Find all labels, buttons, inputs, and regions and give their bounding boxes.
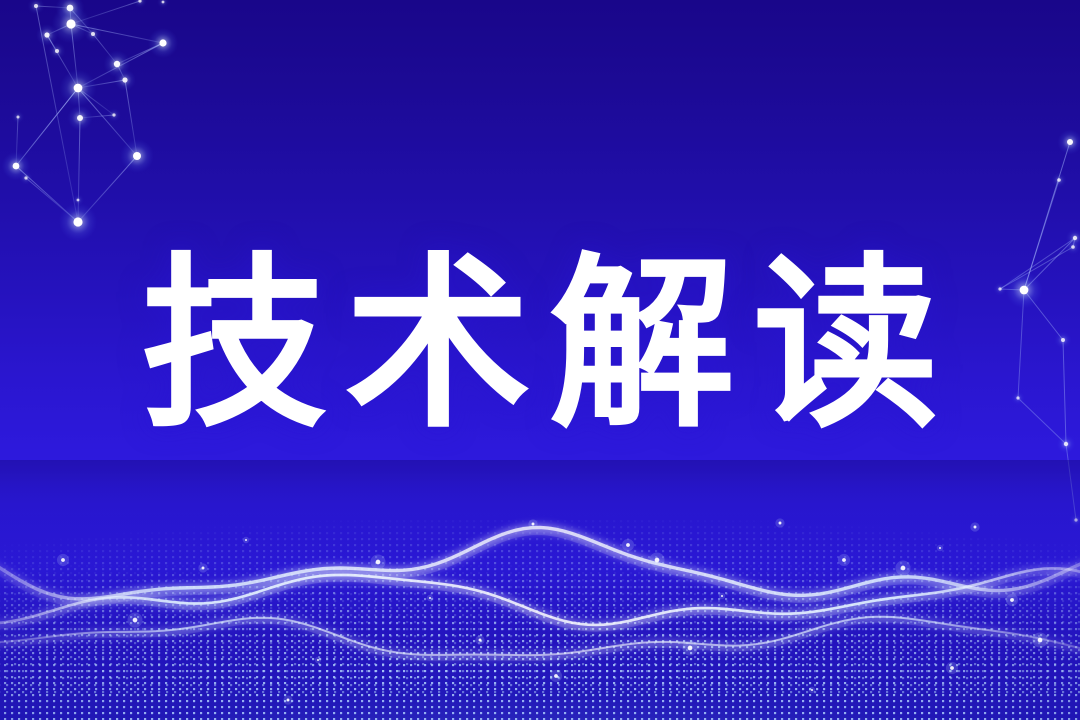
particle-wave-mesh: [0, 460, 1080, 720]
page-title: 技术解读: [123, 252, 957, 438]
wave-ambient-glow: [0, 460, 1080, 720]
network-edges: [16, 1, 163, 222]
poster-canvas: 技术解读: [0, 0, 1080, 720]
title-block: 技术解读: [0, 252, 1080, 438]
network-nodes: [2, 0, 178, 241]
